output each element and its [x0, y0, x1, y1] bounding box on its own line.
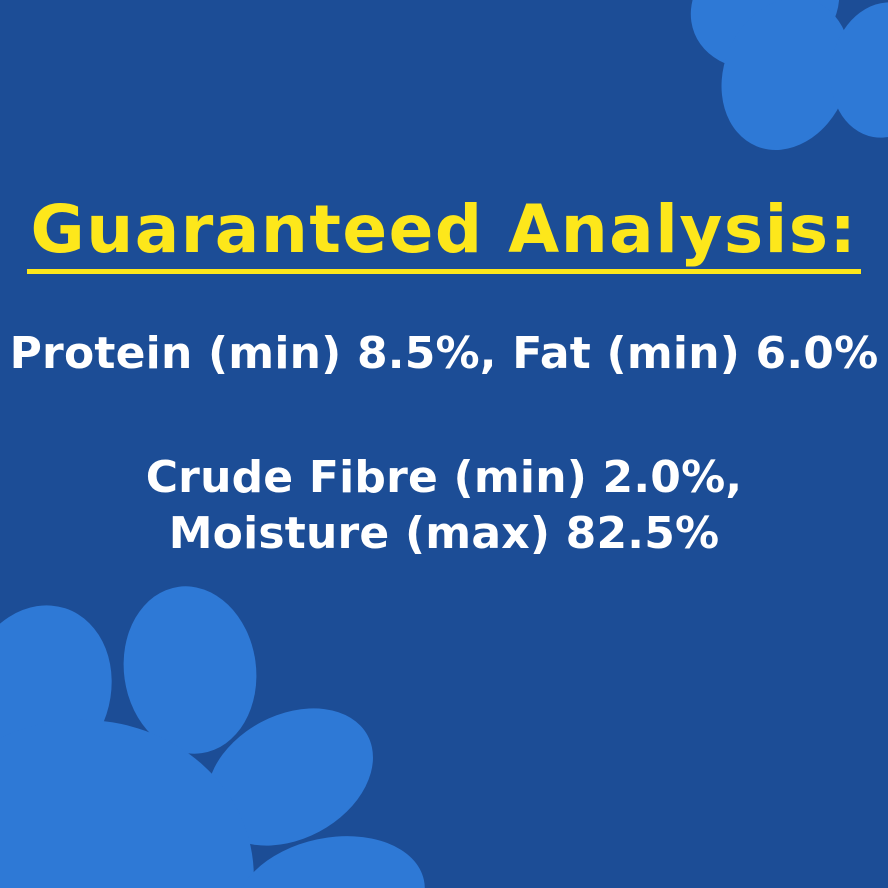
page-title-wrap: Guaranteed Analysis:	[0, 196, 888, 274]
analysis-line-crude-fibre: Crude Fibre (min) 2.0%,	[0, 450, 888, 506]
analysis-content: Guaranteed Analysis: Protein (min) 8.5%,…	[0, 0, 888, 888]
page-title: Guaranteed Analysis:	[27, 196, 862, 274]
guaranteed-analysis-panel: Guaranteed Analysis: Protein (min) 8.5%,…	[0, 0, 888, 888]
analysis-line-moisture: Moisture (max) 82.5%	[0, 506, 888, 562]
analysis-block-fibre-moisture: Crude Fibre (min) 2.0%, Moisture (max) 8…	[0, 450, 888, 563]
analysis-line-protein-fat: Protein (min) 8.5%, Fat (min) 6.0%	[0, 326, 888, 382]
